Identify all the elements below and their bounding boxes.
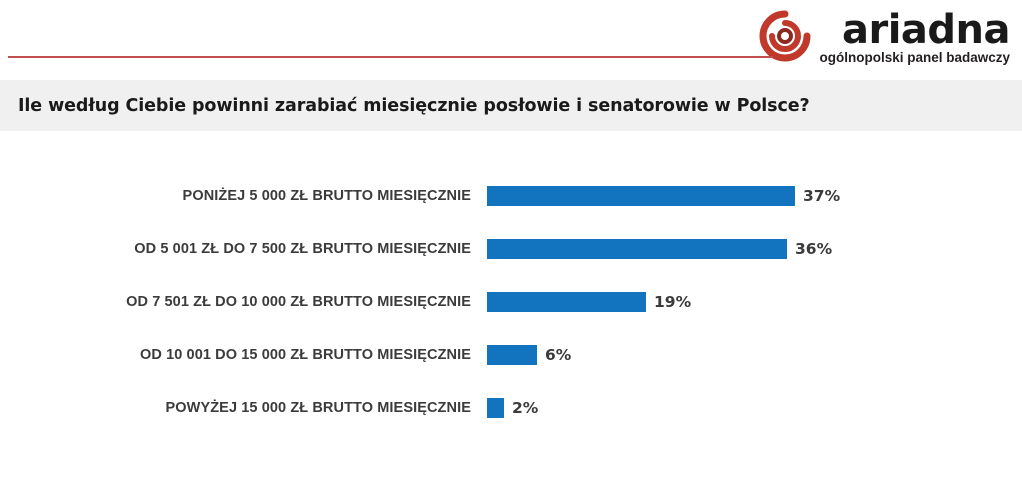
table-row: OD 10 001 DO 15 000 ZŁ BRUTTO MIESIĘCZNI… — [0, 345, 1022, 398]
bar-track: 2% — [487, 398, 538, 418]
bar-category-label: OD 7 501 ZŁ DO 10 000 ZŁ BRUTTO MIESIĘCZ… — [126, 292, 471, 312]
brand-name: ariadna — [842, 8, 1010, 52]
bar-value-label: 6% — [545, 345, 571, 365]
brand-tagline: ogólnopolski panel badawczy — [819, 50, 1010, 66]
bar-category-label: OD 10 001 DO 15 000 ZŁ BRUTTO MIESIĘCZNI… — [140, 345, 471, 365]
bar-value-label: 36% — [795, 239, 832, 259]
question-title-band: Ile według Ciebie powinni zarabiać miesi… — [0, 80, 1022, 131]
table-row: OD 5 001 ZŁ DO 7 500 ZŁ BRUTTO MIESIĘCZN… — [0, 239, 1022, 292]
bar-chart-rows: PONIŻEJ 5 000 ZŁ BRUTTO MIESIĘCZNIE 37% … — [0, 186, 1022, 451]
bar-fill — [487, 345, 537, 365]
bar-fill — [487, 398, 504, 418]
bar-track: 6% — [487, 345, 571, 365]
ariadna-spiral-logo-icon — [759, 10, 811, 62]
bar-track: 19% — [487, 292, 691, 312]
table-row: POWYŻEJ 15 000 ZŁ BRUTTO MIESIĘCZNIE 2% — [0, 398, 1022, 451]
ariadna-brand: ariadna ogólnopolski panel badawczy — [759, 8, 1010, 66]
bar-chart: PONIŻEJ 5 000 ZŁ BRUTTO MIESIĘCZNIE 37% … — [0, 131, 1022, 495]
bar-category-label: OD 5 001 ZŁ DO 7 500 ZŁ BRUTTO MIESIĘCZN… — [134, 239, 471, 259]
header-divider-rule — [8, 56, 773, 58]
page-title: Ile według Ciebie powinni zarabiać miesi… — [0, 96, 810, 116]
bar-fill — [487, 186, 795, 206]
bar-track: 36% — [487, 239, 832, 259]
page-header: ariadna ogólnopolski panel badawczy — [0, 0, 1022, 80]
bar-track: 37% — [487, 186, 840, 206]
bar-value-label: 2% — [512, 398, 538, 418]
table-row: OD 7 501 ZŁ DO 10 000 ZŁ BRUTTO MIESIĘCZ… — [0, 292, 1022, 345]
table-row: PONIŻEJ 5 000 ZŁ BRUTTO MIESIĘCZNIE 37% — [0, 186, 1022, 239]
bar-category-label: PONIŻEJ 5 000 ZŁ BRUTTO MIESIĘCZNIE — [183, 186, 471, 206]
bar-fill — [487, 239, 787, 259]
bar-value-label: 37% — [803, 186, 840, 206]
bar-value-label: 19% — [654, 292, 691, 312]
bar-fill — [487, 292, 646, 312]
bar-category-label: POWYŻEJ 15 000 ZŁ BRUTTO MIESIĘCZNIE — [166, 398, 471, 418]
